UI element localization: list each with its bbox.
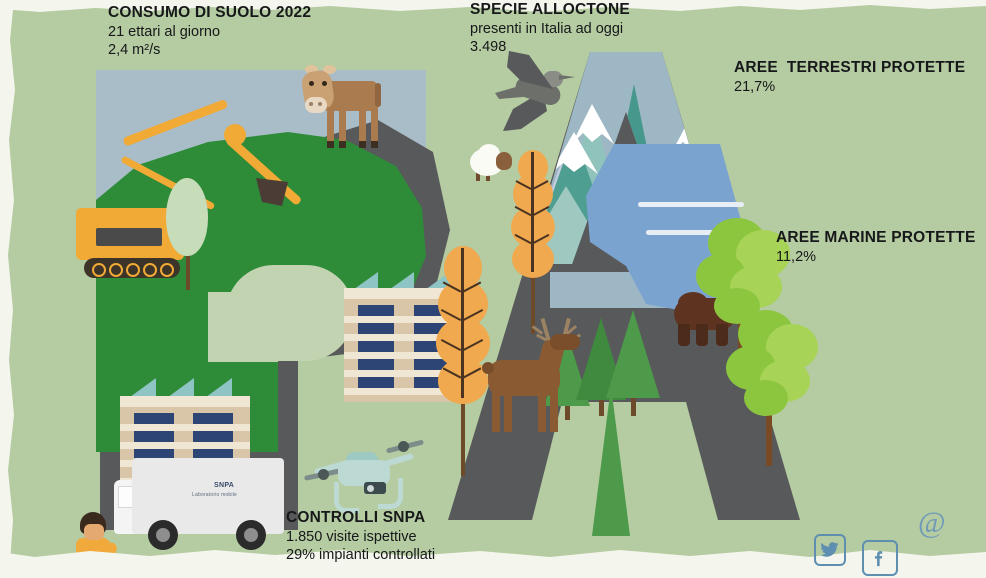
- label-line-1: presenti in Italia ad oggi: [470, 20, 630, 39]
- twitter-icon[interactable]: [814, 534, 846, 566]
- label-line-1: 21 ettari al giorno: [108, 23, 311, 42]
- label-heading: SPECIE ALLOCTONE: [470, 1, 630, 20]
- label-line-1: 21,7%: [734, 78, 965, 97]
- facebook-icon[interactable]: [862, 540, 898, 576]
- label-heading: CONTROLLI SNPA: [286, 509, 435, 528]
- bird-icon: [485, 51, 581, 137]
- label-aree-terrestri-protette: AREE TERRESTRI PROTETTE 21,7%: [734, 59, 965, 96]
- deer-icon: [478, 318, 590, 436]
- label-line-2: 29% impianti controllati: [286, 546, 435, 565]
- label-consumo-di-suolo: CONSUMO DI SUOLO 2022 21 ettari al giorn…: [108, 4, 311, 60]
- label-line-1: 11,2%: [776, 248, 975, 267]
- label-line-1: 1.850 visite ispettive: [286, 528, 435, 547]
- label-heading: AREE TERRESTRI PROTETTE: [734, 59, 965, 78]
- infographic-canvas: SNPA Laboratorio mobile: [0, 0, 986, 578]
- label-aree-marine-protette: AREE MARINE PROTETTE 11,2%: [776, 229, 975, 266]
- cow-icon: [303, 57, 381, 149]
- van-label-secondary: Laboratorio mobile: [192, 492, 237, 498]
- label-specie-alloctone: SPECIE ALLOCTONE presenti in Italia ad o…: [470, 1, 630, 57]
- label-line-2: 3.498: [470, 38, 630, 57]
- letter-a-illustration: [400, 46, 820, 536]
- tree-icon: [166, 178, 210, 290]
- autumn-tree-icon: [508, 148, 558, 334]
- broadleaf-tree-icon: [718, 304, 828, 466]
- van-icon: SNPA Laboratorio mobile: [114, 458, 294, 560]
- label-heading: AREE MARINE PROTETTE: [776, 229, 975, 248]
- pine-tree-icon: [592, 386, 630, 536]
- van-label-primary: SNPA: [214, 482, 234, 489]
- water-ripple: [638, 202, 744, 207]
- label-heading: CONSUMO DI SUOLO 2022: [108, 4, 311, 23]
- label-controlli-snpa: CONTROLLI SNPA 1.850 visite ispettive 29…: [286, 509, 435, 565]
- email-icon[interactable]: @: [918, 508, 946, 538]
- label-line-2: 2,4 m²/s: [108, 41, 311, 60]
